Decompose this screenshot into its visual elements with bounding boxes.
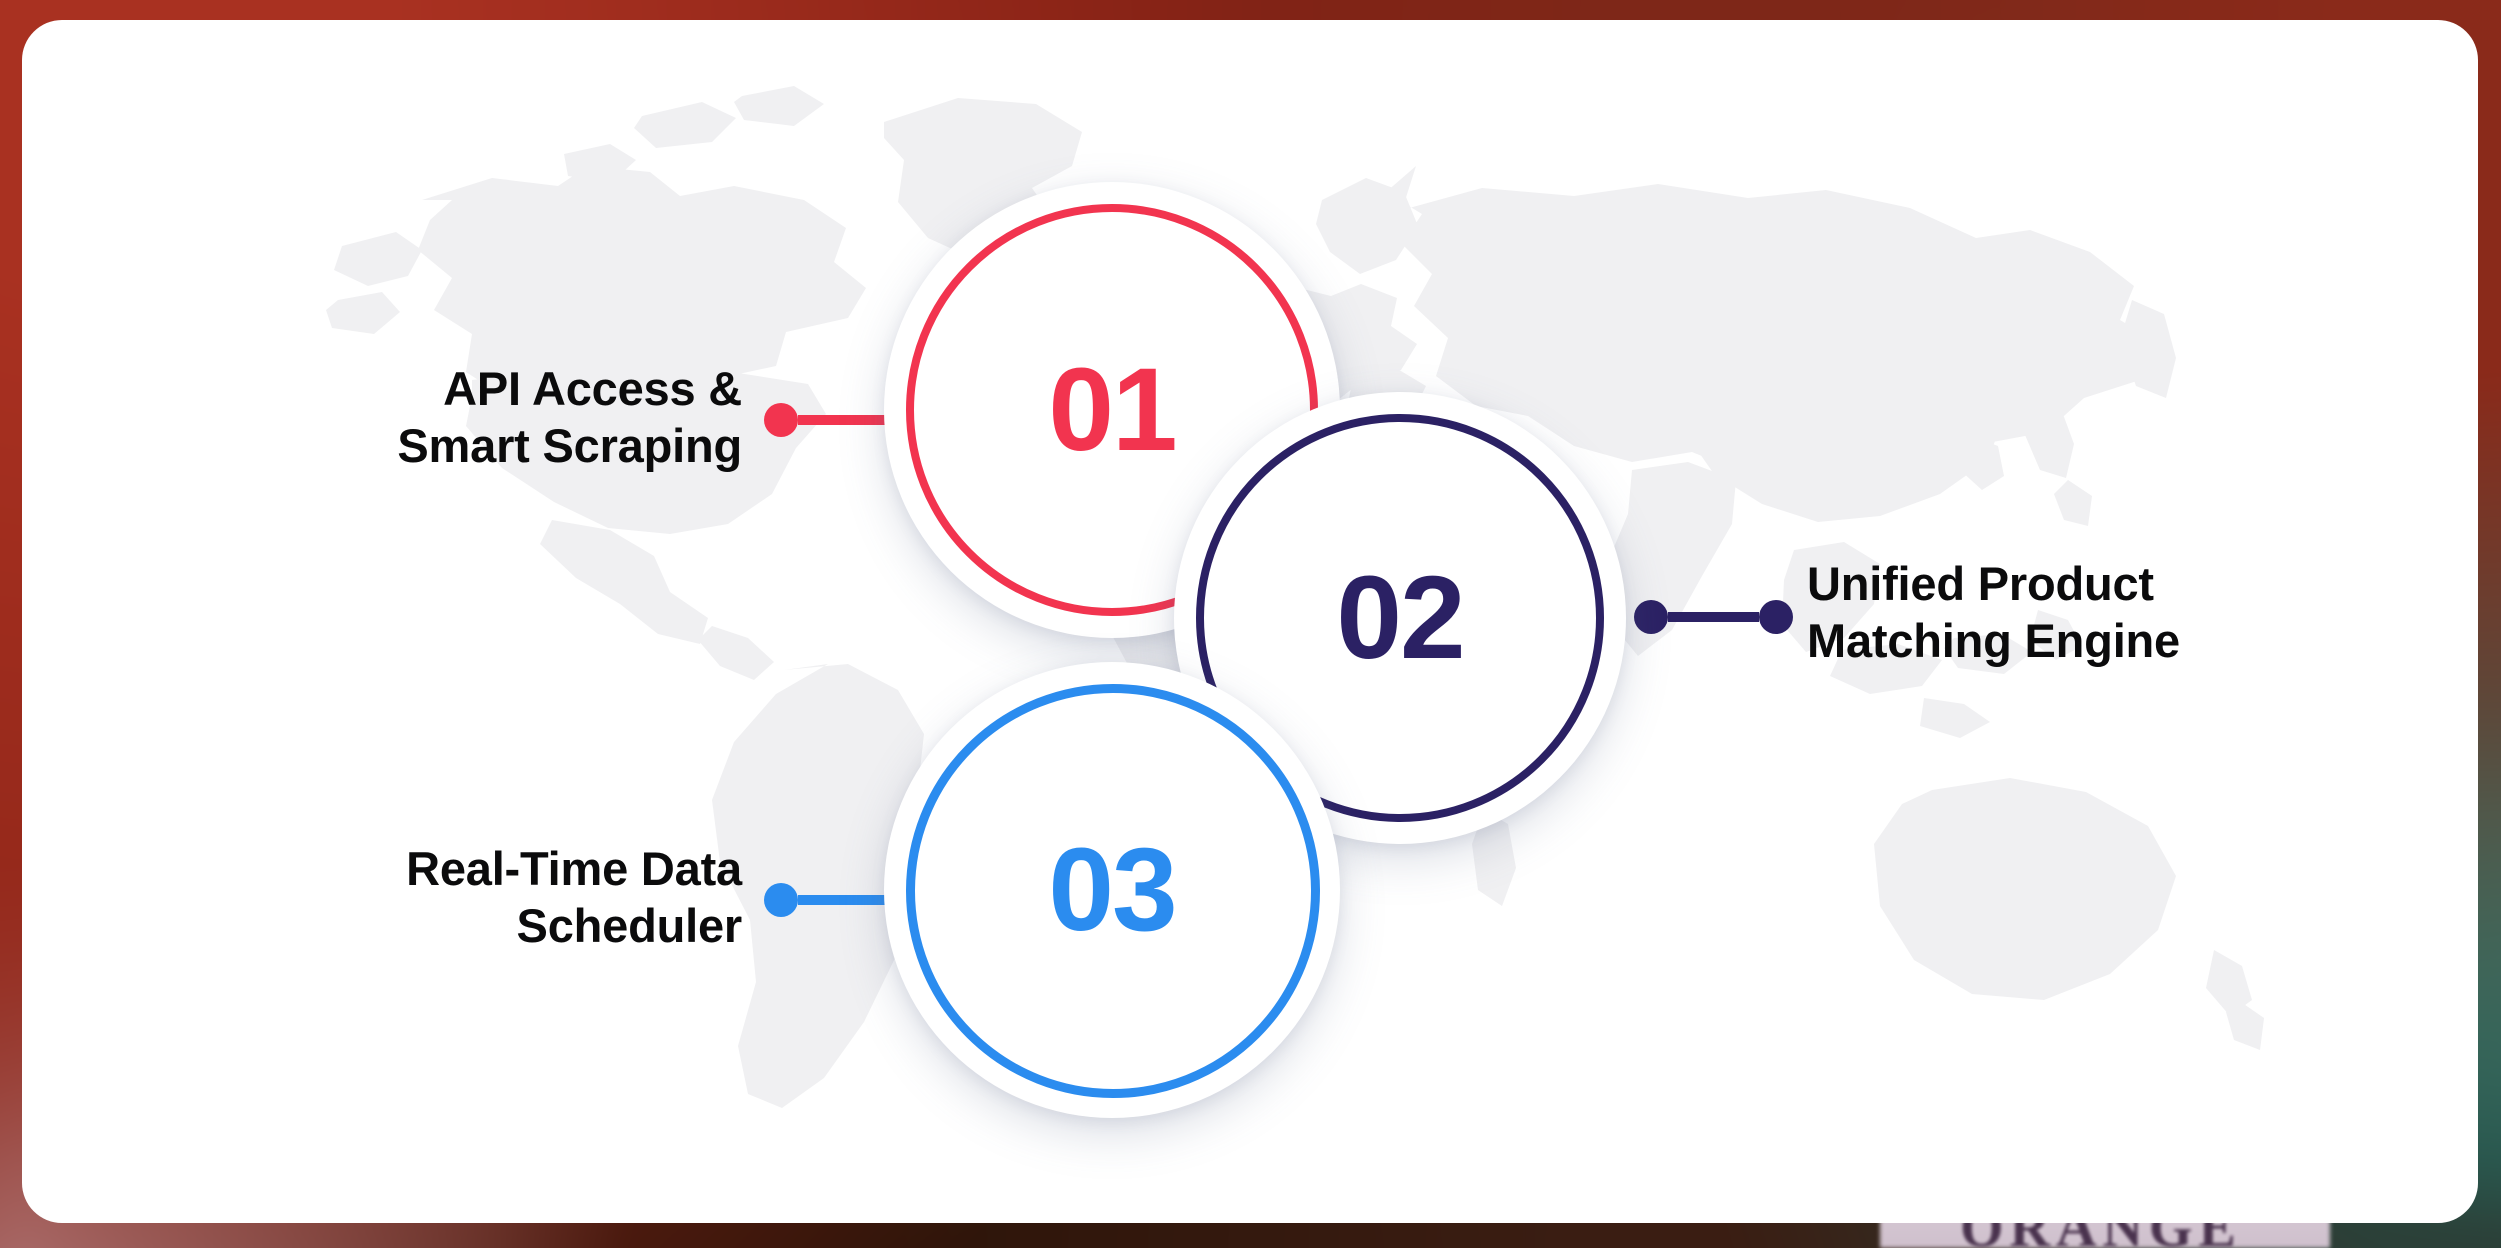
connector-line-2 [1634, 600, 1793, 634]
connector-bar-1 [798, 415, 889, 425]
connector-dot-outer-3 [764, 883, 798, 917]
step-number-1: 01 [1048, 351, 1175, 469]
step-label-2: Unified Product Matching Engine [1807, 555, 2427, 670]
connector-bar-2 [1668, 612, 1759, 622]
content-card: API Access & Smart Scraping Unified Prod… [22, 20, 2478, 1223]
connector-dot-outer-1 [764, 403, 798, 437]
connector-dot-outer-2 [1759, 600, 1793, 634]
step-number-3: 03 [1048, 831, 1175, 949]
step-number-2: 02 [1336, 559, 1463, 677]
connector-dot-inner-2 [1634, 600, 1668, 634]
step-circle-3[interactable]: 03 [884, 662, 1340, 1118]
infographic-stage: ORANGE [0, 0, 2501, 1248]
step-label-1: API Access & Smart Scraping [202, 360, 742, 475]
connector-bar-3 [798, 895, 889, 905]
step-label-3: Real-Time Data Scheduler [202, 840, 742, 955]
